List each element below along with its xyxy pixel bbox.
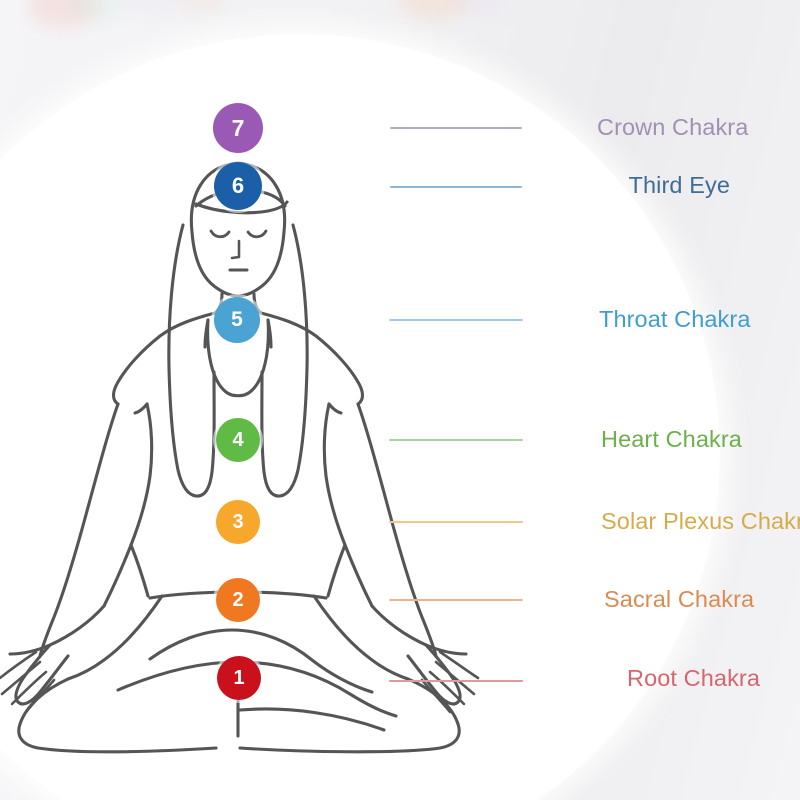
chakra-label-6[interactable]: Third Eye: [0, 172, 730, 199]
chakra-label-5[interactable]: Throat Chakra: [599, 306, 751, 333]
chakra-leader-line: [389, 439, 523, 441]
chakra-leader-line: [389, 319, 523, 321]
chakra-label-2[interactable]: Sacral Chakra: [604, 586, 754, 613]
chakra-label-4[interactable]: Heart Chakra: [601, 426, 742, 453]
chakra-leader-line: [389, 680, 523, 682]
chakra-dot-7[interactable]: 7: [213, 103, 263, 153]
chakra-number: 3: [232, 511, 243, 534]
chakra-annotation-overlay: 7Crown Chakra6Third Eye5Throat Chakra4He…: [0, 0, 800, 800]
chakra-number: 1: [233, 667, 244, 690]
chakra-label-7[interactable]: Crown Chakra: [597, 114, 748, 141]
chakra-dot-2[interactable]: 2: [216, 578, 260, 622]
chakra-dot-5[interactable]: 5: [214, 297, 260, 343]
chakra-leader-line: [389, 599, 523, 601]
chakra-number: 7: [232, 115, 245, 142]
chakra-number: 4: [232, 429, 243, 452]
chakra-dot-1[interactable]: 1: [217, 656, 261, 700]
chakra-dot-4[interactable]: 4: [216, 418, 260, 462]
chakra-number: 2: [232, 589, 243, 612]
chakra-label-1[interactable]: Root Chakra: [627, 665, 760, 692]
chakra-number: 5: [231, 308, 243, 332]
chakra-leader-line: [390, 127, 522, 129]
chakra-diagram-image: 7Crown Chakra6Third Eye5Throat Chakra4He…: [0, 0, 800, 800]
chakra-label-3[interactable]: Solar Plexus Chakra: [601, 508, 800, 535]
chakra-dot-3[interactable]: 3: [216, 500, 260, 544]
chakra-leader-line: [389, 521, 523, 523]
